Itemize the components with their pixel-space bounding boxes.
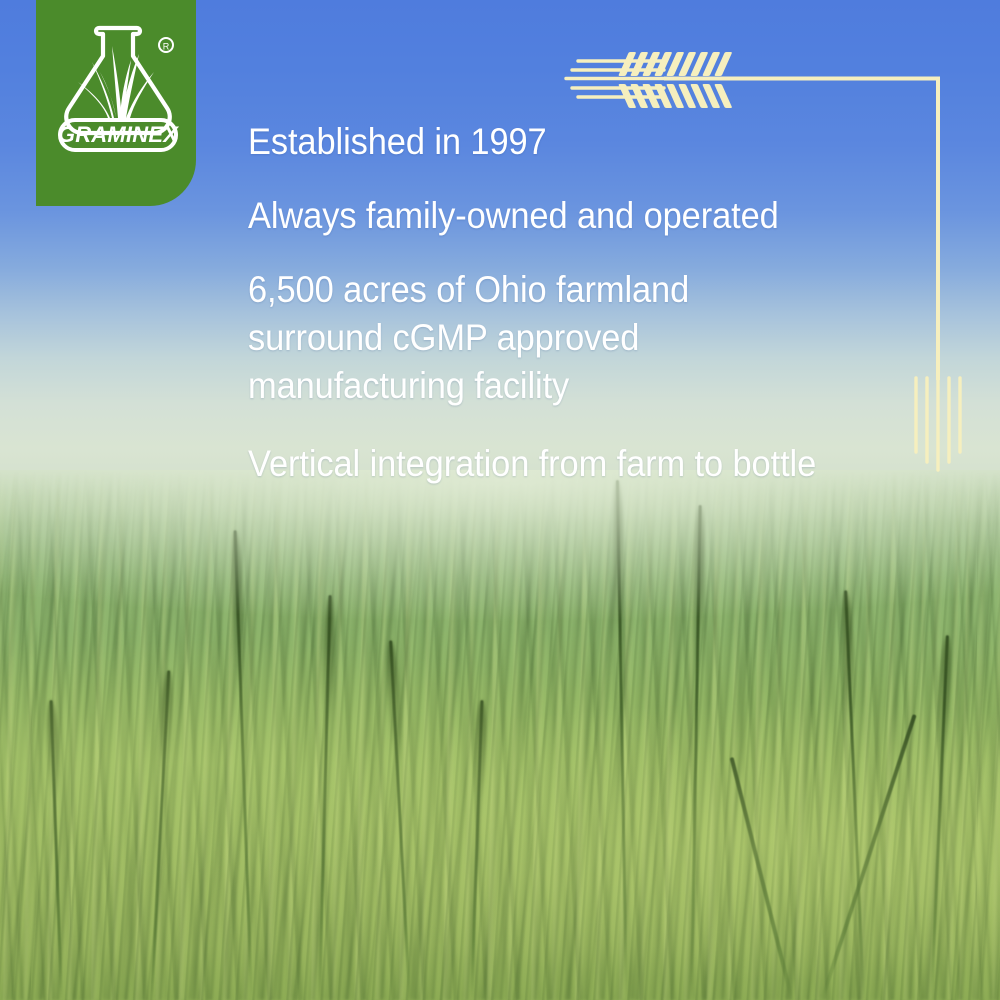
promo-graphic: GRAMINEX R Established in 1997 Always fa… bbox=[0, 0, 1000, 1000]
copy-line-acreage: 6,500 acres of Ohio farmland surround cG… bbox=[248, 266, 890, 410]
wheat-field-photo bbox=[0, 470, 1000, 1000]
copy-line-vertical-integration: Vertical integration from farm to bottle bbox=[248, 440, 890, 488]
copy-line-family-owned: Always family-owned and operated bbox=[248, 192, 890, 240]
brand-name: GRAMINEX bbox=[58, 122, 179, 147]
flask-with-grass-icon: GRAMINEX R bbox=[44, 14, 192, 164]
registered-mark-icon: R bbox=[159, 38, 173, 52]
copy-line-established: Established in 1997 bbox=[248, 118, 890, 166]
grass-blades bbox=[78, 46, 154, 118]
svg-text:R: R bbox=[163, 42, 170, 52]
brand-logo-panel: GRAMINEX R bbox=[36, 0, 196, 206]
copy-block: Established in 1997 Always family-owned … bbox=[248, 118, 938, 489]
